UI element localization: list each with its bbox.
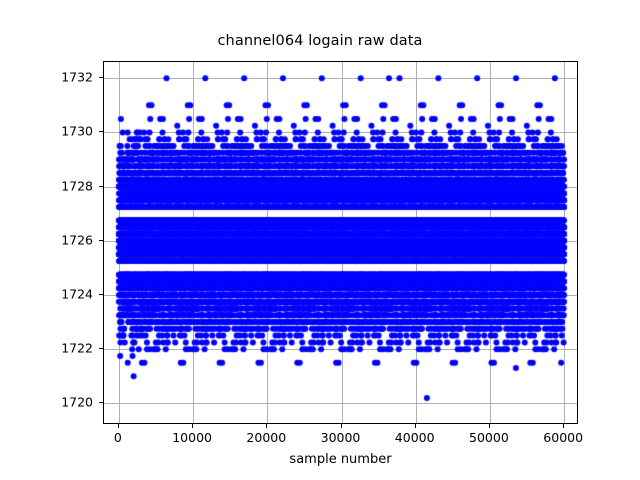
x-axis-label: sample number — [103, 452, 578, 467]
y-tick-label: 1728 — [33, 178, 93, 193]
matplotlib-figure: channel064 logain raw data 0100002000030… — [0, 0, 640, 480]
y-tick-mark — [99, 240, 103, 241]
x-tick-mark — [563, 424, 564, 428]
x-tick-label: 60000 — [543, 430, 583, 445]
y-tick-mark — [99, 131, 103, 132]
y-tick-label: 1720 — [33, 395, 93, 410]
y-tick-label: 1726 — [33, 232, 93, 247]
y-tick-label: 1724 — [33, 287, 93, 302]
x-tick-label: 50000 — [469, 430, 509, 445]
x-tick-label: 0 — [114, 430, 122, 445]
x-tick-label: 10000 — [172, 430, 212, 445]
plot-axes — [103, 61, 578, 424]
y-tick-label: 1732 — [33, 70, 93, 85]
x-tick-label: 40000 — [395, 430, 435, 445]
x-tick-mark — [415, 424, 416, 428]
y-tick-label: 1722 — [33, 341, 93, 356]
y-tick-mark — [99, 348, 103, 349]
x-tick-mark — [118, 424, 119, 428]
y-tick-mark — [99, 77, 103, 78]
y-tick-mark — [99, 186, 103, 187]
y-tick-mark — [99, 294, 103, 295]
scatter-points-layer — [104, 62, 578, 424]
x-tick-mark — [192, 424, 193, 428]
x-tick-label: 20000 — [246, 430, 286, 445]
page-title: channel064 logain raw data — [0, 33, 640, 49]
x-tick-mark — [489, 424, 490, 428]
x-tick-label: 30000 — [321, 430, 361, 445]
y-tick-mark — [99, 402, 103, 403]
x-tick-mark — [266, 424, 267, 428]
y-tick-label: 1730 — [33, 124, 93, 139]
x-tick-mark — [341, 424, 342, 428]
